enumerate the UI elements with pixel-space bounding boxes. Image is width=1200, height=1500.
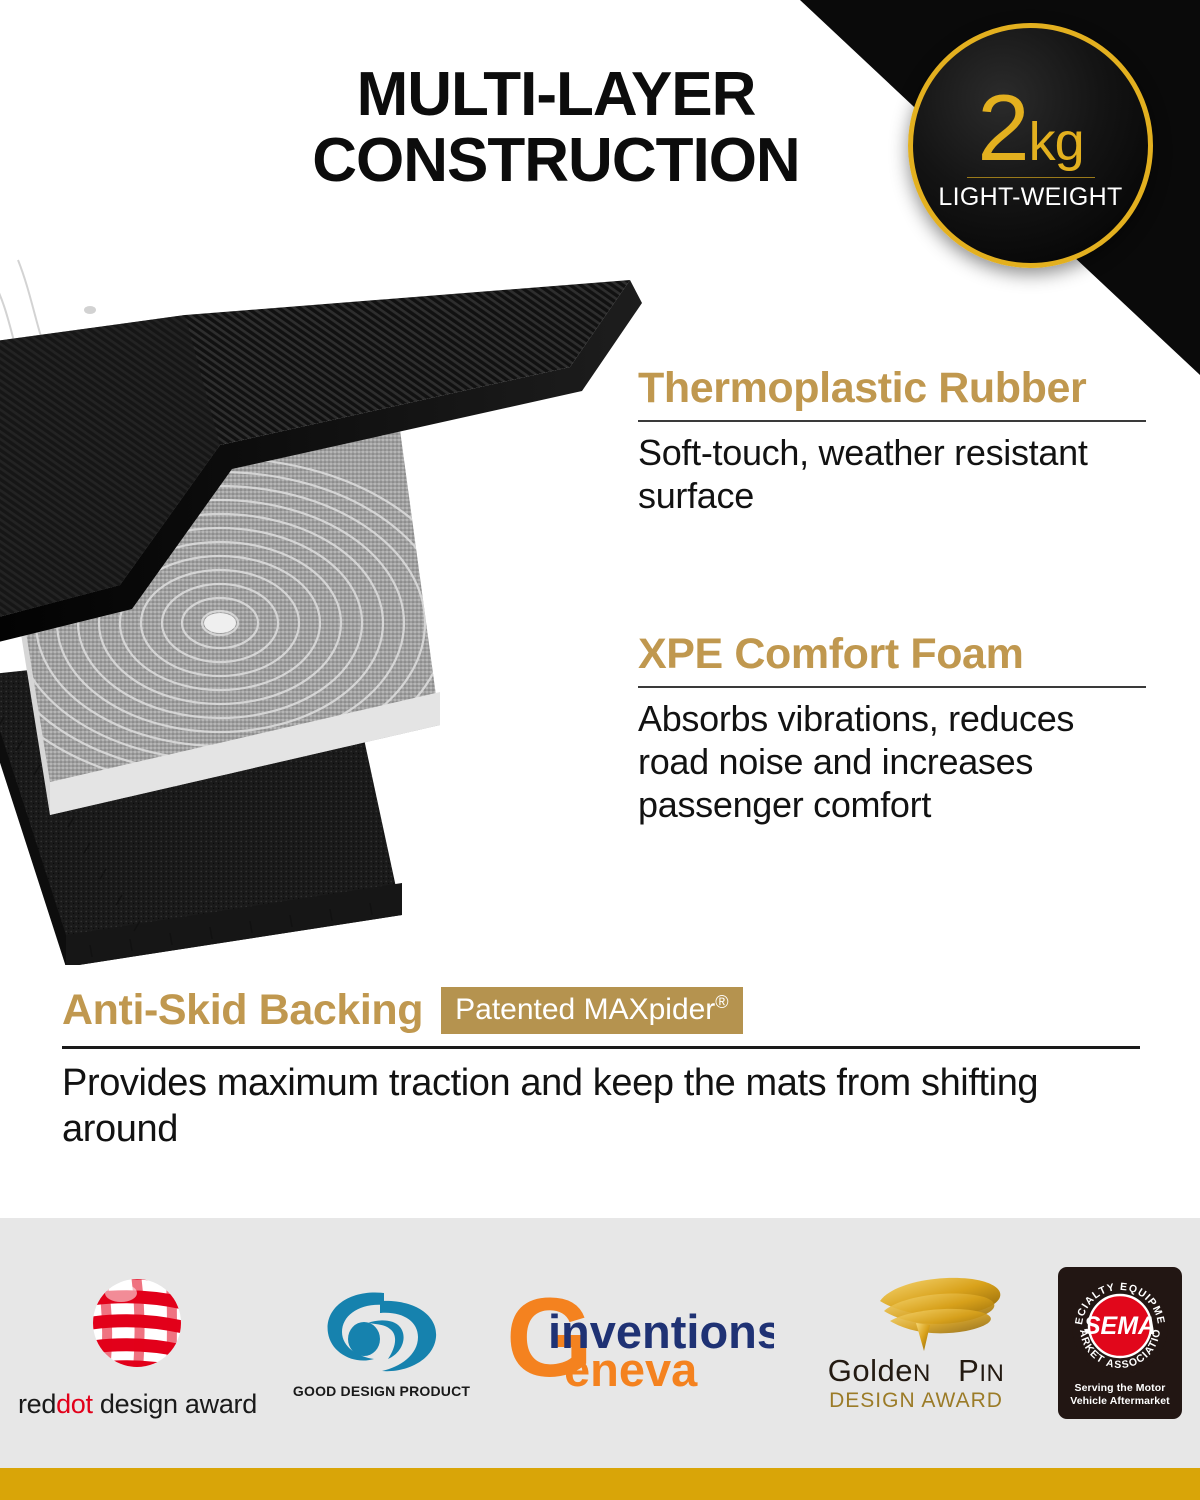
weight-value: 2kg — [977, 85, 1083, 171]
sema-subtitle: Serving the Motor Vehicle Aftermarket — [1070, 1382, 1170, 1408]
golden-pin-subtitle: DESIGN AWARD — [828, 1389, 1005, 1413]
golden-pin-name: GoldeN PIN — [828, 1355, 1005, 1386]
anti-skid-heading: Anti-Skid Backing — [62, 986, 423, 1035]
good-design-gd-icon — [322, 1287, 442, 1379]
awards-band: reddot design award GOOD DESIGN PRODUCT … — [0, 1218, 1200, 1468]
sema-seal-icon: SPECIALTY EQUIPMENT MARKET ASSOCIATION S… — [1066, 1272, 1174, 1380]
weight-unit: kg — [1029, 112, 1084, 172]
patent-badge-text: Patented MAXpider — [455, 993, 715, 1026]
anti-skid-divider — [62, 1046, 1140, 1049]
inventions-geneva-logo-icon: G inventions eneva — [506, 1290, 774, 1396]
reddot-caption: reddot design award — [18, 1389, 257, 1420]
feature-divider — [638, 420, 1146, 422]
bottom-gold-bar — [0, 1468, 1200, 1500]
badge-label: LIGHT-WEIGHT — [938, 183, 1122, 212]
golden-pin-caption: GoldeN PIN DESIGN AWARD — [828, 1355, 1005, 1413]
registered-mark-icon: ® — [715, 992, 728, 1012]
feature-thermoplastic-rubber: Thermoplastic Rubber Soft-touch, weather… — [638, 366, 1146, 518]
feature-anti-skid-backing: Anti-Skid Backing Patented MAXpider® Pro… — [62, 986, 1140, 1152]
feature-body: Soft-touch, weather resistant surface — [638, 432, 1146, 518]
title-line-2: CONSTRUCTION — [236, 128, 876, 194]
good-design-caption: GOOD DESIGN PRODUCT — [293, 1383, 470, 1399]
light-weight-badge: 2kg LIGHT-WEIGHT — [908, 23, 1153, 268]
infographic-page: 2kg LIGHT-WEIGHT MULTI-LAYER CONSTRUCTIO… — [0, 0, 1200, 1500]
patented-maxpider-badge: Patented MAXpider® — [441, 987, 742, 1034]
badge-divider — [967, 177, 1095, 178]
golden-pin-swoosh-icon — [810, 1273, 1022, 1351]
title-line-1: MULTI-LAYER — [236, 62, 876, 128]
award-good-design-product: GOOD DESIGN PRODUCT — [293, 1287, 470, 1399]
product-illustration — [0, 255, 670, 965]
award-sema: SPECIALTY EQUIPMENT MARKET ASSOCIATION S… — [1058, 1267, 1182, 1419]
anti-skid-heading-row: Anti-Skid Backing Patented MAXpider® — [62, 986, 1140, 1035]
sema-wordmark: SEMA — [1084, 1312, 1156, 1340]
feature-xpe-comfort-foam: XPE Comfort Foam Absorbs vibrations, red… — [638, 632, 1146, 827]
award-inventions-geneva: G inventions eneva — [506, 1290, 774, 1396]
award-golden-pin: GoldeN PIN DESIGN AWARD — [810, 1273, 1022, 1413]
page-title: MULTI-LAYER CONSTRUCTION — [236, 62, 876, 195]
anti-skid-body: Provides maximum traction and keep the m… — [62, 1061, 1140, 1152]
feature-divider — [638, 686, 1146, 688]
feature-body: Absorbs vibrations, reduces road noise a… — [638, 698, 1146, 826]
award-reddot: reddot design award — [18, 1267, 257, 1420]
feature-heading: XPE Comfort Foam — [638, 632, 1146, 677]
eneva-word: eneva — [564, 1343, 698, 1396]
feature-heading: Thermoplastic Rubber — [638, 366, 1146, 411]
sema-card: SPECIALTY EQUIPMENT MARKET ASSOCIATION S… — [1058, 1267, 1182, 1419]
reddot-sphere-icon — [77, 1267, 197, 1385]
